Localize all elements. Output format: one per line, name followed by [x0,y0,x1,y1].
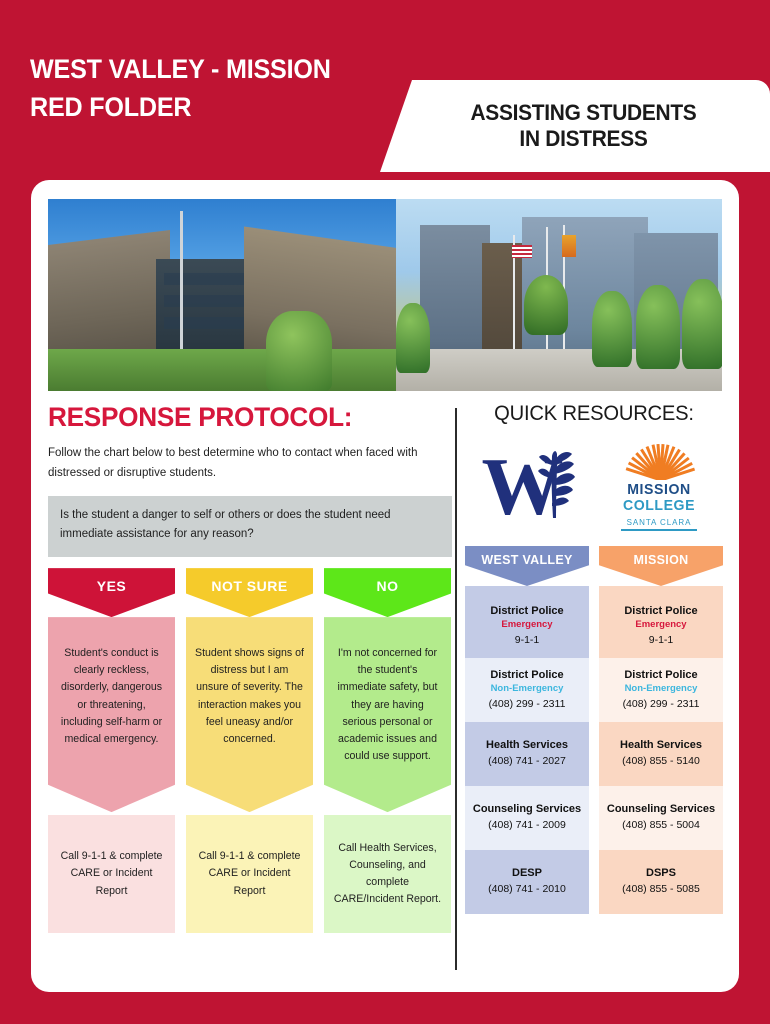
header-subtitle-line1: ASSISTING STUDENTS [471,100,697,126]
flow-body-no: I'm not concerned for the student's imme… [324,617,451,812]
poster-title-line2: RED FOLDER [30,88,402,126]
resource-columns: WEST VALLEY District Police Emergency 9-… [465,546,723,914]
resource-name: Counseling Services [604,802,718,817]
response-protocol-title: RESPONSE PROTOCOL: [48,402,440,433]
tree [682,279,722,369]
west-valley-college-logo: W [482,442,578,534]
tree [592,291,632,367]
resource-phone[interactable]: 9-1-1 [604,633,718,648]
flow-column-no: NO I'm not concerned for the student's i… [324,568,451,933]
decision-flow: YES Student's conduct is clearly reckles… [48,568,452,933]
resource-phone[interactable]: (408) 741 - 2010 [470,882,584,897]
flow-column-not-sure: NOT SURE Student shows signs of distress… [186,568,313,933]
response-protocol-section: RESPONSE PROTOCOL: Follow the chart belo… [48,402,452,974]
logo-rule [621,529,697,531]
flagpole [180,211,183,361]
mission-logo-line3: SANTA CLARA [610,517,708,527]
tree [396,303,430,373]
landscaping [48,349,396,391]
response-protocol-description: Follow the chart below to best determine… [48,444,452,484]
sunburst-icon [607,440,711,480]
flow-header-not-sure: NOT SURE [186,568,313,617]
resource-sublabel: Emergency [470,619,584,632]
resource-column-mission: MISSION District Police Emergency 9-1-1 … [599,546,723,914]
resource-phone[interactable]: (408) 855 - 5140 [604,754,718,769]
tree [266,311,332,391]
flow-header-no: NO [324,568,451,617]
resource-header-mission: MISSION [599,546,723,586]
palm-tree [524,275,568,335]
resource-cell: DESP (408) 741 - 2010 [465,850,589,914]
poster-title-line1: WEST VALLEY - MISSION [30,50,402,88]
resource-sublabel: Emergency [604,619,718,632]
quick-resources-title: QUICK RESOURCES: [470,402,718,426]
flow-body-yes: Student's conduct is clearly reckless, d… [48,617,175,812]
resource-cell: District Police Non-Emergency (408) 299 … [465,658,589,722]
tree [636,285,680,369]
flow-body-not-sure: Student shows signs of distress but I am… [186,617,313,812]
resource-name: Counseling Services [470,802,584,817]
flow-column-yes: YES Student's conduct is clearly reckles… [48,568,175,933]
campus-photos [48,199,722,391]
resource-sublabel: Non-Emergency [604,683,718,696]
resource-name: DSPS [604,866,718,881]
resource-name: DESP [470,866,584,881]
resource-name: Health Services [470,738,584,753]
main-content: RESPONSE PROTOCOL: Follow the chart belo… [31,402,739,974]
resource-name: District Police [604,604,718,619]
resource-name: District Police [604,668,718,683]
resource-phone[interactable]: (408) 299 - 2311 [604,697,718,712]
header-subtitle-panel: ASSISTING STUDENTS IN DISTRESS [380,80,770,172]
resource-cell: District Police Emergency 9-1-1 [465,586,589,658]
section-divider [455,408,457,970]
quick-resources-section: QUICK RESOURCES: W [465,402,723,974]
header-subtitle-line2: IN DISTRESS [471,126,697,152]
resource-cell: Counseling Services (408) 741 - 2009 [465,786,589,850]
mission-campus-photo [396,199,722,391]
header-subtitle-text: ASSISTING STUDENTS IN DISTRESS [453,100,696,153]
mission-college-logo: MISSION COLLEGE SANTA CLARA [607,440,711,536]
poster-title: WEST VALLEY - MISSION RED FOLDER [30,50,402,127]
resource-phone[interactable]: (408) 299 - 2311 [470,697,584,712]
resource-sublabel: Non-Emergency [470,683,584,696]
poster-root: WEST VALLEY - MISSION RED FOLDER ASSISTI… [0,0,770,1024]
resource-cell: Health Services (408) 741 - 2027 [465,722,589,786]
mission-logo-line2: COLLEGE [610,498,708,514]
us-flag [512,245,532,258]
mission-logo-line1: MISSION [610,482,708,498]
flow-action-yes: Call 9-1-1 & complete CARE or Incident R… [48,815,175,933]
resource-phone[interactable]: (408) 741 - 2009 [470,818,584,833]
resource-cell: Health Services (408) 855 - 5140 [599,722,723,786]
resource-name: District Police [470,604,584,619]
resource-phone[interactable]: (408) 855 - 5085 [604,882,718,897]
resource-header-west-valley: WEST VALLEY [465,546,589,586]
west-valley-logo-slot: W [465,434,594,542]
college-logos: W [465,434,723,542]
resource-name: Health Services [604,738,718,753]
resource-phone[interactable]: (408) 741 - 2027 [470,754,584,769]
resource-name: District Police [470,668,584,683]
flow-action-no: Call Health Services, Counseling, and co… [324,815,451,933]
resource-cell: DSPS (408) 855 - 5085 [599,850,723,914]
flow-action-not-sure: Call 9-1-1 & complete CARE or Incident R… [186,815,313,933]
secondary-flag [562,235,576,257]
resource-cell: District Police Emergency 9-1-1 [599,586,723,658]
poster-header: WEST VALLEY - MISSION RED FOLDER ASSISTI… [0,0,770,178]
oak-leaf-icon [532,448,576,520]
content-card: RESPONSE PROTOCOL: Follow the chart belo… [31,180,739,992]
resource-phone[interactable]: 9-1-1 [470,633,584,648]
resource-cell: District Police Non-Emergency (408) 299 … [599,658,723,722]
mission-logo-slot: MISSION COLLEGE SANTA CLARA [594,434,723,542]
west-valley-campus-photo [48,199,396,391]
flow-header-yes: YES [48,568,175,617]
resource-column-west-valley: WEST VALLEY District Police Emergency 9-… [465,546,589,914]
resource-cell: Counseling Services (408) 855 - 5004 [599,786,723,850]
resource-phone[interactable]: (408) 855 - 5004 [604,818,718,833]
response-protocol-question: Is the student a danger to self or other… [48,496,452,558]
